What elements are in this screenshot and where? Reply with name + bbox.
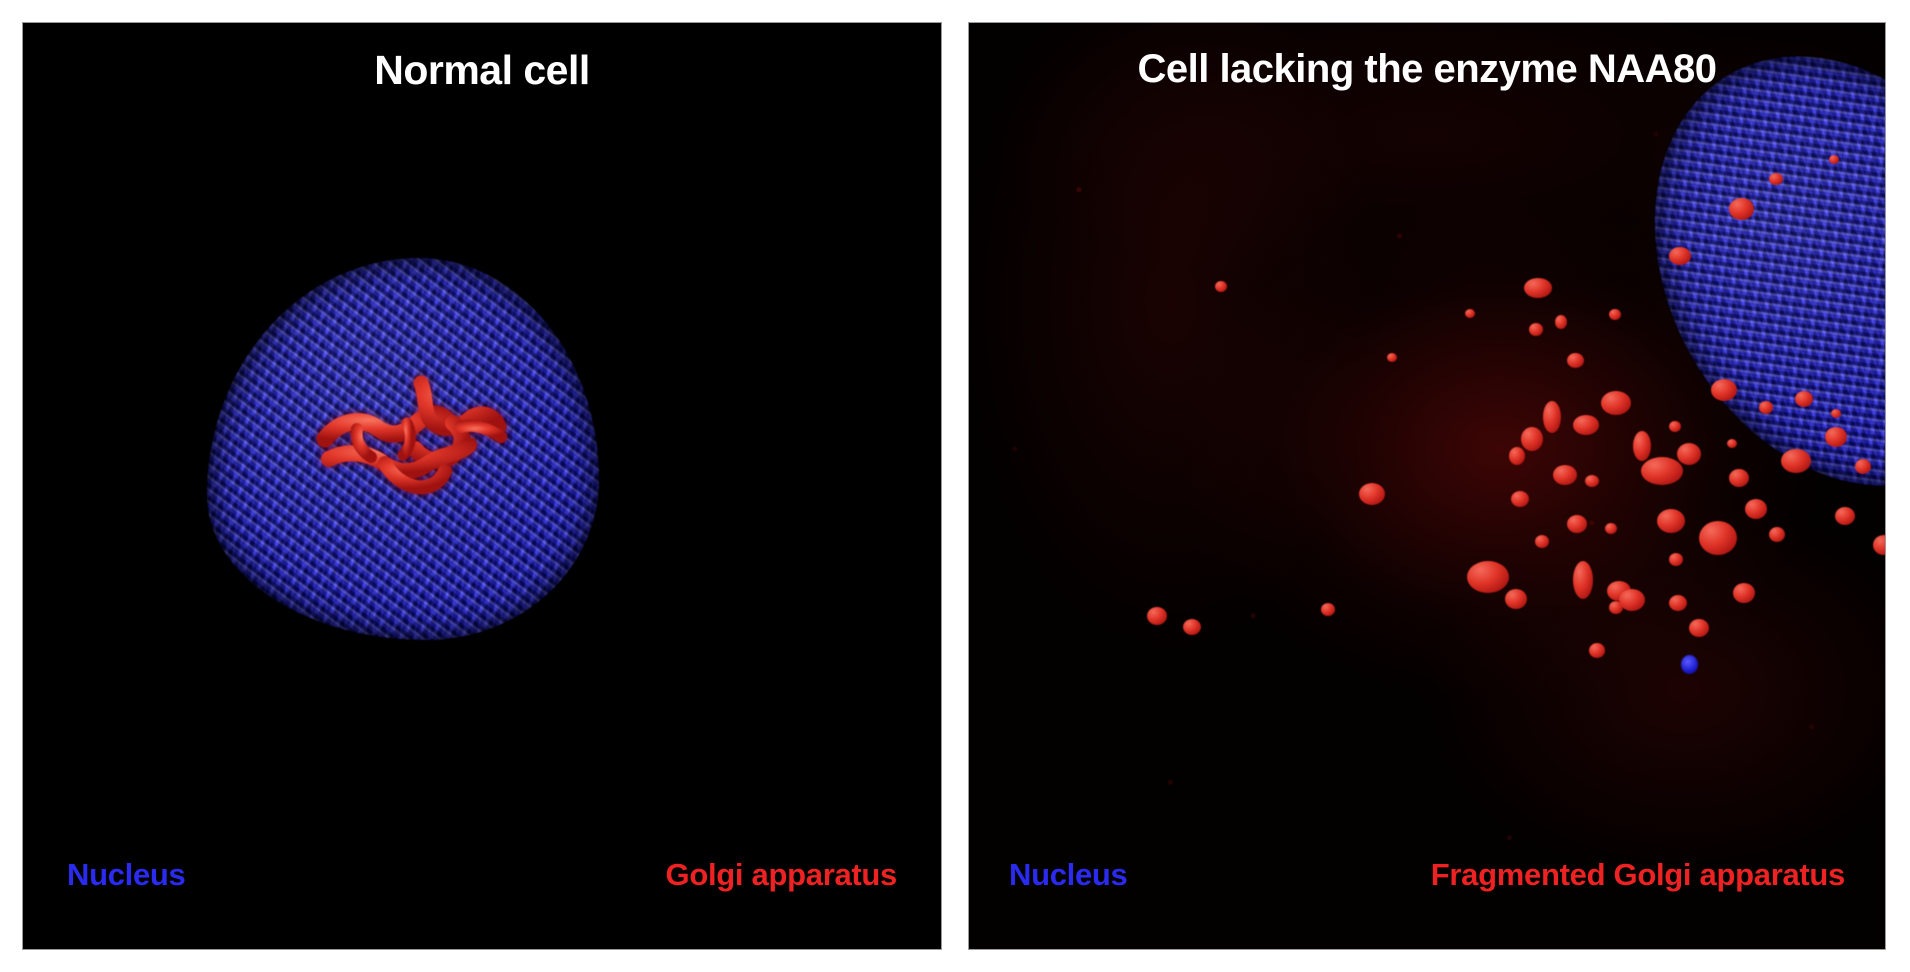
- golgi-apparatus-intact: [311, 363, 527, 499]
- golgi-fragment: [1769, 527, 1785, 542]
- golgi-fragment: [1745, 499, 1767, 519]
- golgi-fragment: [1215, 281, 1227, 292]
- golgi-fragment: [1183, 619, 1201, 635]
- golgi-fragment: [1573, 415, 1599, 435]
- golgi-fragment: [1521, 427, 1543, 451]
- figure-root: Normal cell Nucleus: [0, 0, 1910, 972]
- golgi-fragment: [1359, 483, 1385, 505]
- golgi-fragment: [1589, 643, 1605, 658]
- golgi-fragment: [1669, 247, 1691, 265]
- golgi-fragment: [1669, 421, 1681, 432]
- golgi-fragment: [1387, 353, 1397, 362]
- golgi-fragment: [1769, 173, 1783, 185]
- golgi-fragment: [1641, 457, 1683, 485]
- golgi-fragment: [1781, 449, 1811, 473]
- panel-title-naa80-cell: Cell lacking the enzyme NAA80: [969, 47, 1885, 92]
- golgi-fragment: [1524, 278, 1552, 298]
- golgi-fragment: [1511, 491, 1529, 507]
- golgi-fragment: [1535, 535, 1549, 548]
- legend-naa80-cell: Nucleus Fragmented Golgi apparatus: [969, 857, 1885, 893]
- panel-title-normal-cell: Normal cell: [23, 47, 941, 94]
- golgi-fragment: [1825, 427, 1847, 447]
- golgi-fragment: [1733, 583, 1755, 603]
- golgi-fragment: [1657, 509, 1685, 533]
- golgi-fragment: [1601, 391, 1631, 415]
- legend-label-nucleus: Nucleus: [1009, 857, 1128, 893]
- golgi-fragment: [1831, 409, 1841, 418]
- golgi-fragment: [1467, 561, 1509, 593]
- golgi-fragment: [1669, 595, 1687, 611]
- legend-label-fragmented-golgi: Fragmented Golgi apparatus: [1431, 857, 1845, 893]
- golgi-fragment: [1677, 443, 1701, 465]
- golgi-fragment: [1689, 619, 1709, 637]
- golgi-fragment: [1873, 535, 1886, 555]
- golgi-fragment: [1555, 315, 1567, 329]
- golgi-fragment: [1619, 589, 1645, 611]
- golgi-fragment: [1147, 607, 1167, 625]
- legend-label-golgi: Golgi apparatus: [666, 857, 897, 893]
- golgi-fragment: [1529, 323, 1543, 336]
- golgi-fragment: [1465, 309, 1475, 318]
- golgi-fragment: [1729, 198, 1754, 220]
- golgi-fragment: [1505, 589, 1527, 609]
- golgi-fragment: [1711, 379, 1737, 401]
- panel-naa80-knockout-cell[interactable]: Cell lacking the enzyme NAA80: [968, 22, 1886, 950]
- golgi-fragment: [1609, 309, 1621, 320]
- golgi-fragment: [1605, 523, 1617, 534]
- golgi-fragment: [1553, 465, 1577, 485]
- golgi-fragment: [1543, 401, 1561, 433]
- legend-normal-cell: Nucleus Golgi apparatus: [23, 857, 941, 893]
- golgi-fragment: [1669, 553, 1683, 566]
- golgi-fragment: [1567, 515, 1587, 533]
- golgi-fragment: [1509, 447, 1525, 465]
- golgi-fragment: [1795, 391, 1813, 407]
- golgi-fragment: [1633, 431, 1651, 461]
- golgi-fragment: [1729, 469, 1749, 487]
- golgi-fragment: [1321, 603, 1335, 616]
- golgi-fragment: [1855, 459, 1871, 474]
- golgi-fragment: [1699, 521, 1737, 555]
- legend-label-nucleus: Nucleus: [67, 857, 186, 893]
- panel-normal-cell[interactable]: Normal cell Nucleus: [22, 22, 942, 950]
- golgi-fragment: [1567, 353, 1584, 368]
- golgi-fragment: [1573, 561, 1593, 599]
- isolated-blue-dot: [1681, 655, 1698, 674]
- golgi-fragment: [1727, 439, 1737, 448]
- golgi-fragment: [1585, 475, 1599, 487]
- golgi-fragment: [1759, 401, 1773, 414]
- golgi-fragment: [1835, 507, 1855, 525]
- golgi-fragment: [1829, 155, 1839, 164]
